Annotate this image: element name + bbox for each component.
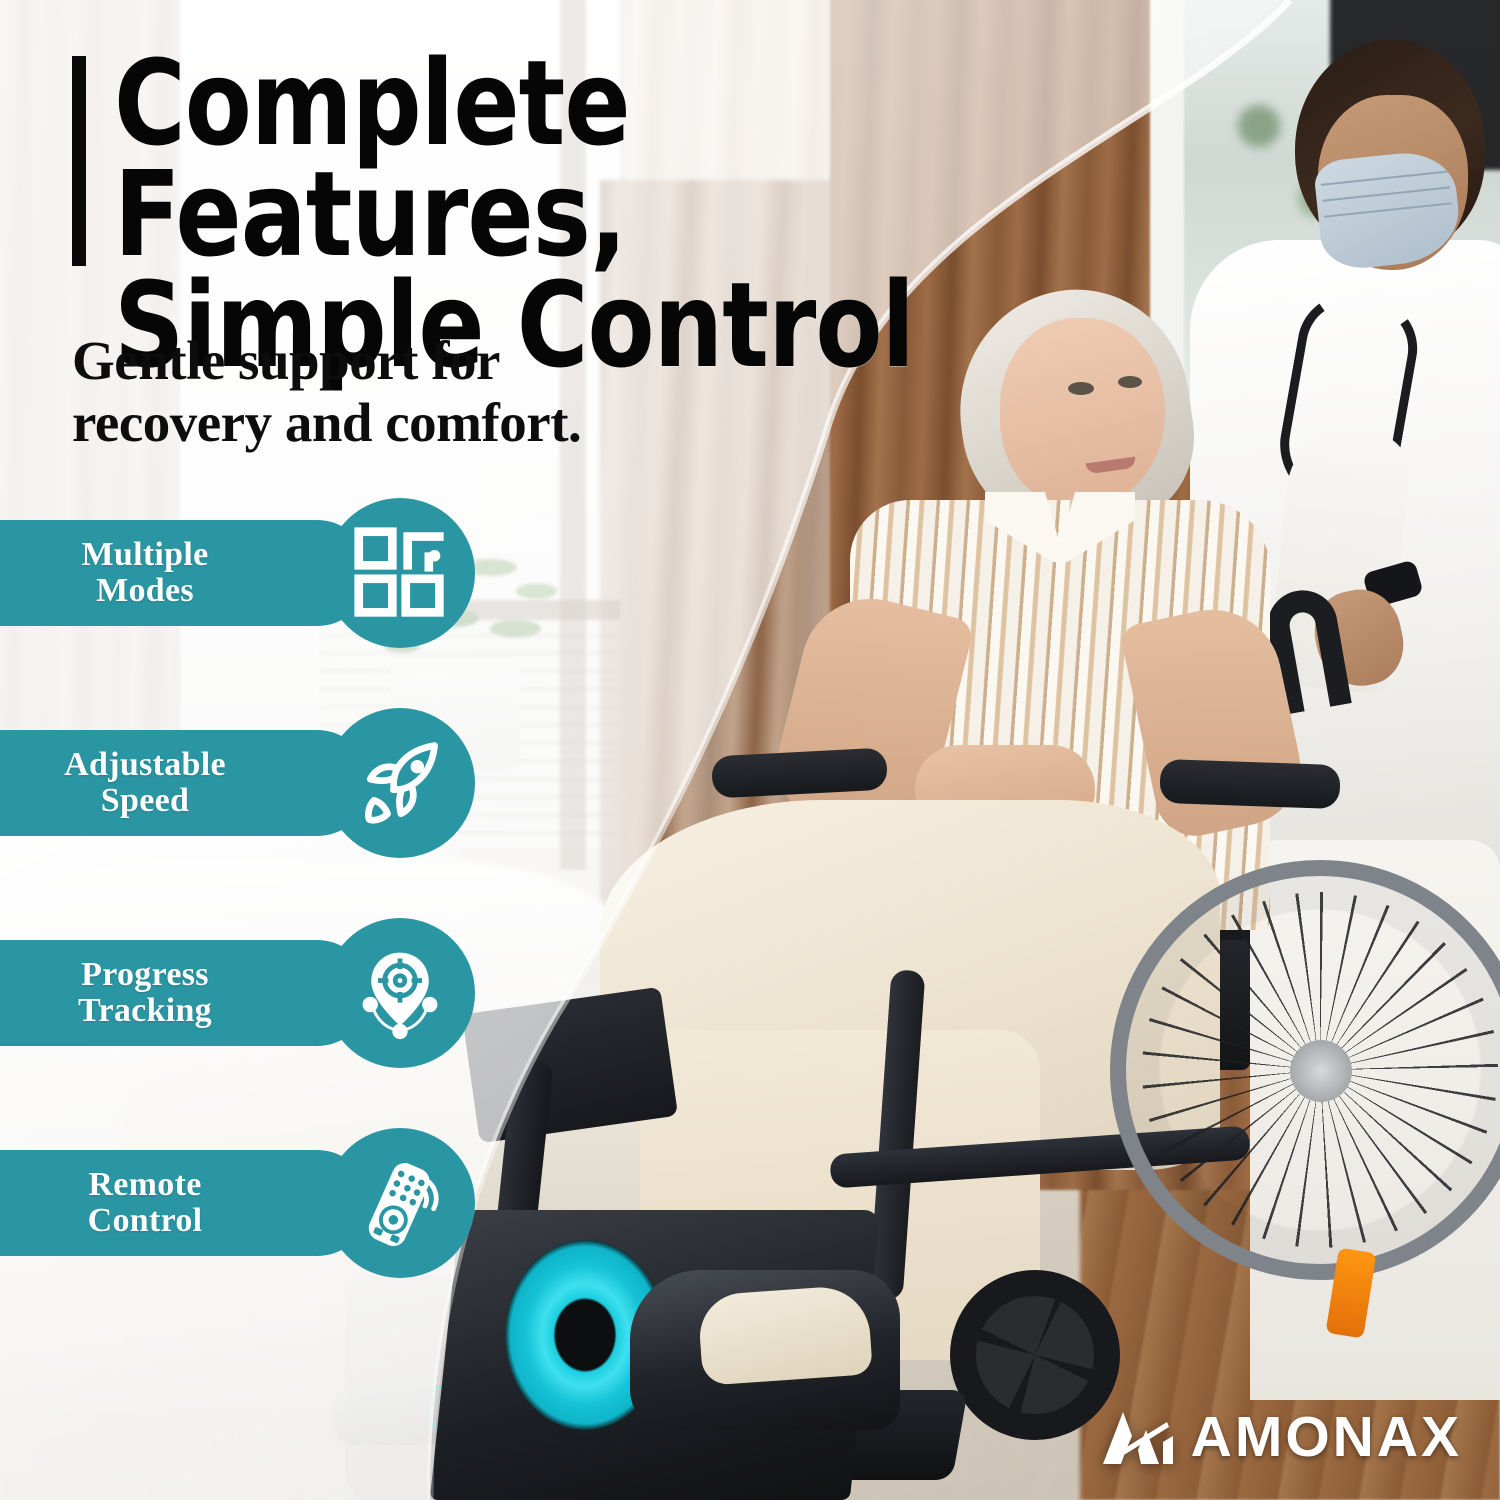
feature-badge: [325, 498, 475, 648]
headline-accent-bar: [72, 56, 86, 266]
feature-item-progress-tracking[interactable]: Progress Tracking: [0, 918, 500, 1068]
feature-label: Multiple Modes: [81, 537, 208, 608]
slipper-on-pedal: [697, 1284, 873, 1386]
feature-item-multiple-modes[interactable]: Multiple Modes: [0, 498, 500, 648]
feature-list: Multiple Modes Adjustable Speed: [0, 498, 500, 1338]
amonax-mountain-mark: [1101, 1406, 1175, 1468]
brand-logo: AMONAX: [1101, 1404, 1462, 1470]
caster-spokes: [962, 1282, 1108, 1428]
feature-badge: [325, 918, 475, 1068]
feature-label: Progress Tracking: [78, 957, 212, 1028]
location-target-tracking-icon: [352, 945, 448, 1041]
rocket-icon: [352, 735, 448, 831]
tv-remote-signal-icon: [352, 1155, 448, 1251]
brand-name: AMONAX: [1191, 1404, 1462, 1470]
eye-left: [1068, 382, 1094, 395]
feature-pill-bar: Multiple Modes: [0, 520, 370, 626]
subheadline: Gentle support for recovery and comfort.: [72, 330, 772, 453]
feature-pill-bar: Progress Tracking: [0, 940, 370, 1046]
feature-label: Adjustable Speed: [64, 747, 226, 818]
grid-modes-icon: [352, 525, 448, 621]
feature-item-remote-control[interactable]: Remote Control: [0, 1128, 500, 1278]
feature-item-adjustable-speed[interactable]: Adjustable Speed: [0, 708, 500, 858]
marketing-banner: Complete Features, Simple Control Gentle…: [0, 0, 1500, 1500]
feature-label: Remote Control: [88, 1167, 203, 1238]
wheelchair-wheel-hub: [1290, 1040, 1352, 1102]
feature-pill-bar: Remote Control: [0, 1150, 370, 1256]
wheelchair-armrest-right: [1159, 759, 1340, 809]
feature-badge: [325, 1128, 475, 1278]
feature-pill-bar: Adjustable Speed: [0, 730, 370, 836]
feature-badge: [325, 708, 475, 858]
